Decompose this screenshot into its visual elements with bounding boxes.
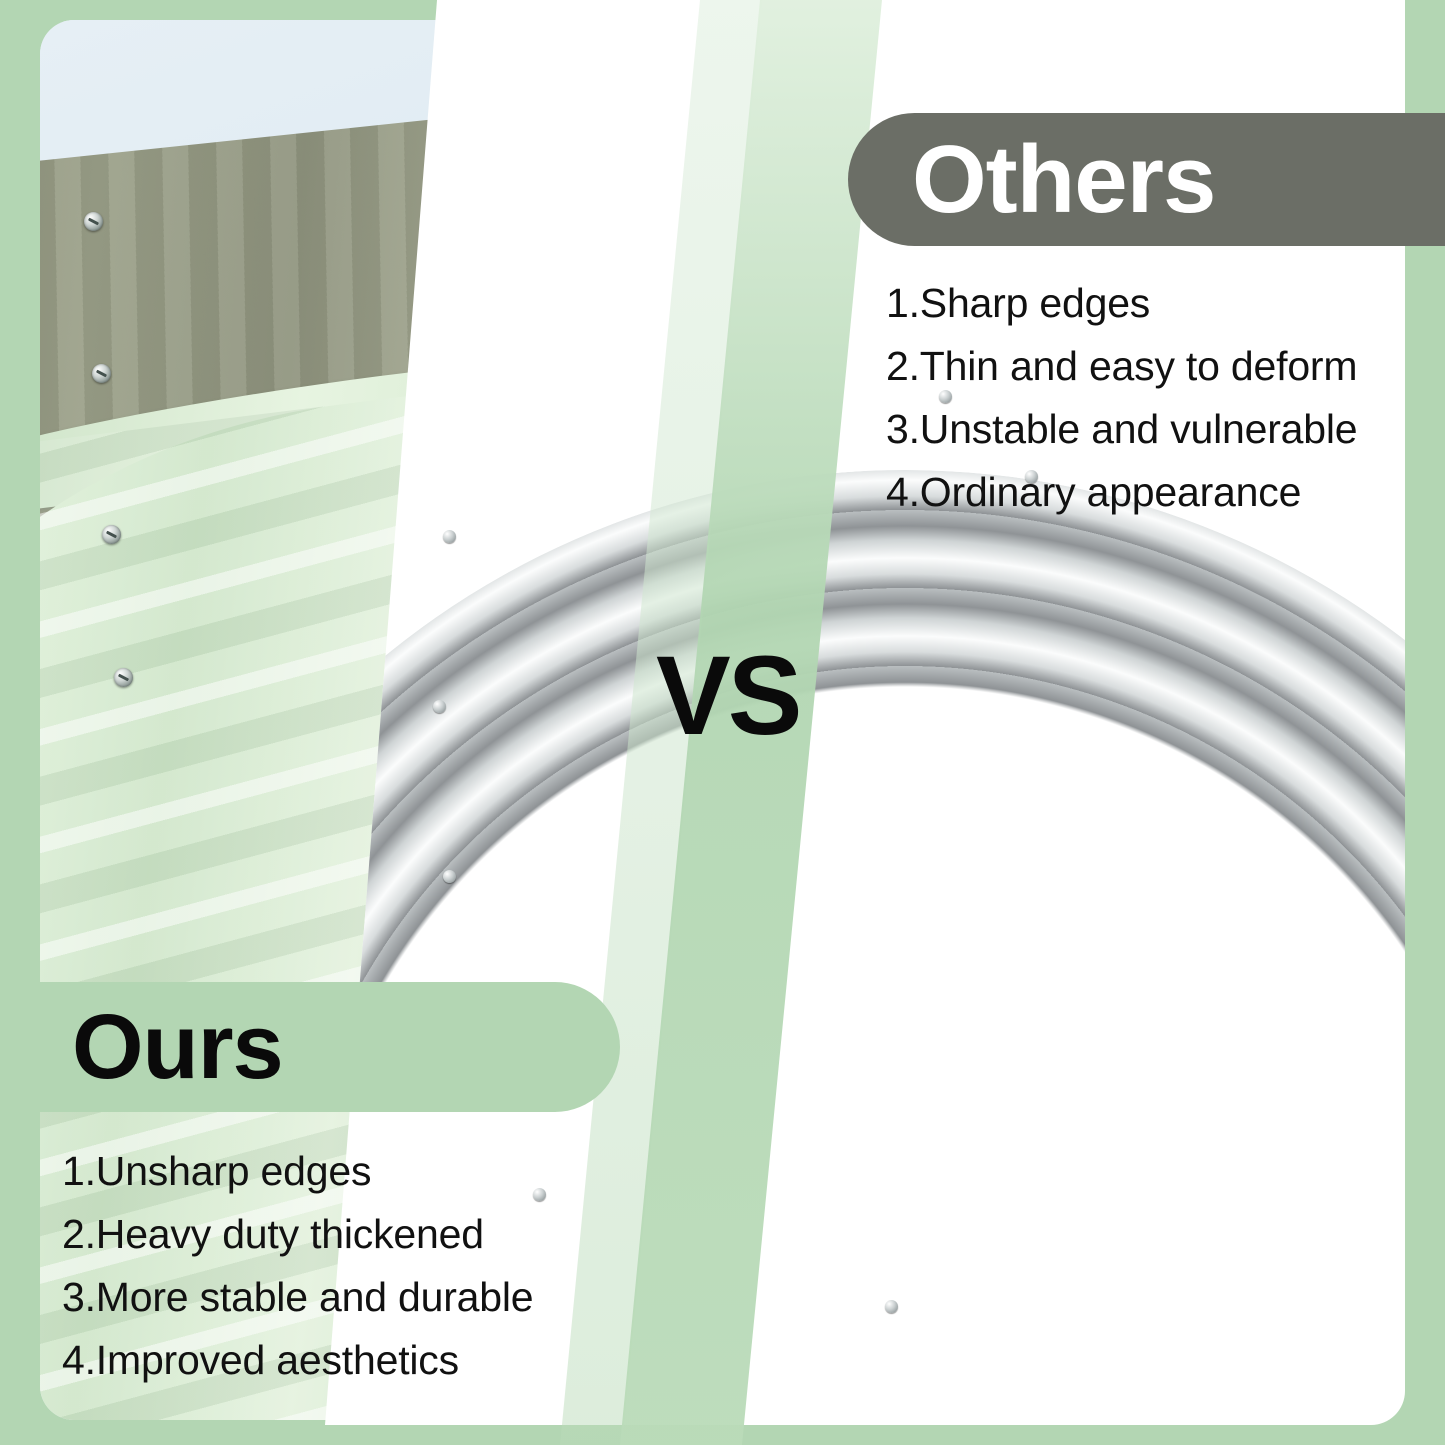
- list-item: 2.Thin and easy to deform: [886, 335, 1426, 398]
- rivet-icon: [433, 700, 446, 713]
- rivet-icon: [443, 870, 456, 883]
- comparison-infographic: mm/inch 1.5 OFF ON ZERO: [0, 0, 1445, 1445]
- list-item: 1.Sharp edges: [886, 272, 1426, 335]
- rivet-icon: [885, 1300, 898, 1313]
- list-item: 4.Improved aesthetics: [62, 1329, 622, 1392]
- ours-badge: Ours: [0, 982, 620, 1112]
- screw-icon: [114, 668, 133, 687]
- list-item: 2.Heavy duty thickened: [62, 1203, 622, 1266]
- ours-badge-label: Ours: [72, 1001, 283, 1093]
- screw-icon: [102, 525, 121, 544]
- screw-icon: [92, 364, 111, 383]
- vs-label: VS: [656, 640, 799, 752]
- list-item: 3.More stable and durable: [62, 1266, 622, 1329]
- others-badge: Others: [848, 113, 1445, 246]
- list-item: 3.Unstable and vulnerable: [886, 398, 1426, 461]
- rivet-icon: [443, 530, 456, 543]
- screw-icon: [84, 212, 103, 231]
- others-badge-label: Others: [912, 132, 1215, 228]
- ours-feature-list: 1.Unsharp edges 2.Heavy duty thickened 3…: [62, 1140, 622, 1392]
- others-feature-list: 1.Sharp edges 2.Thin and easy to deform …: [886, 272, 1426, 524]
- list-item: 4.Ordinary appearance: [886, 461, 1426, 524]
- list-item: 1.Unsharp edges: [62, 1140, 622, 1203]
